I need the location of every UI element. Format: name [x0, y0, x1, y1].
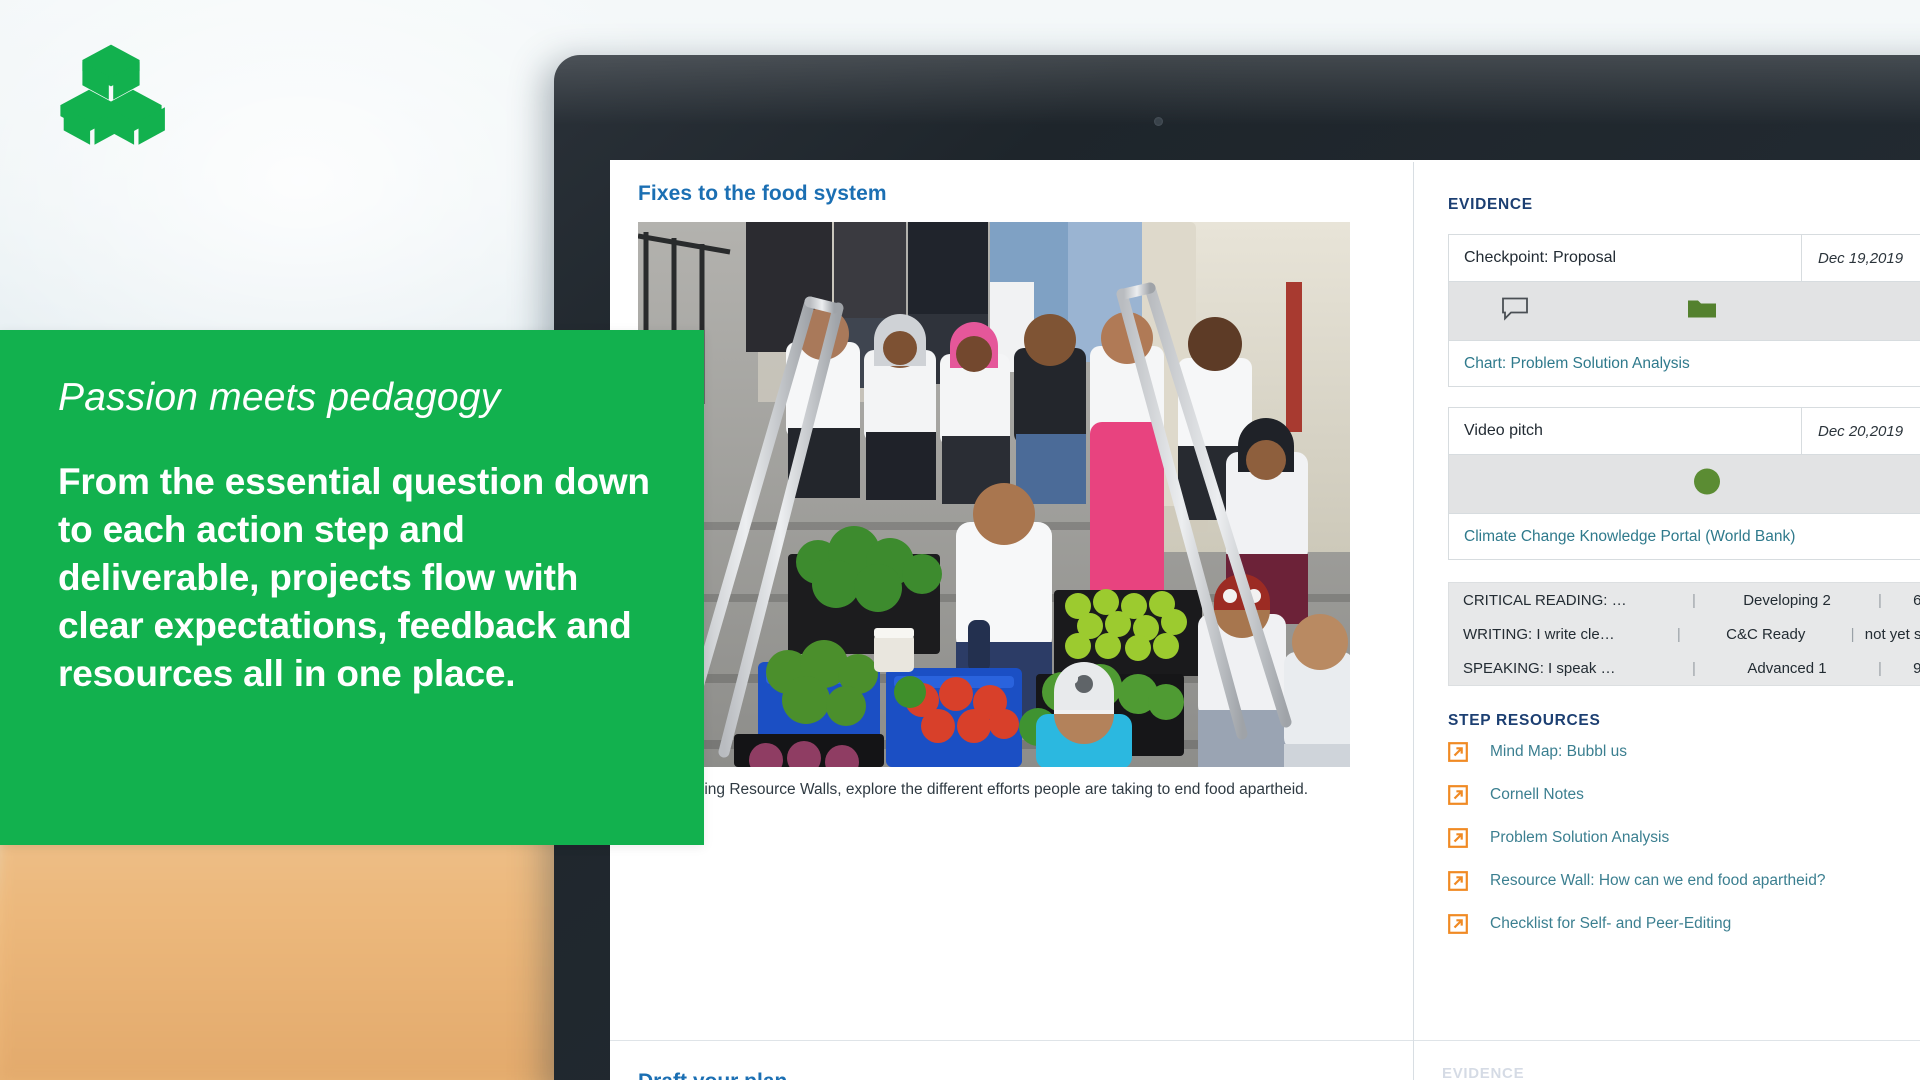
resource-label: Checklist for Self- and Peer-Editing [1490, 915, 1731, 933]
evidence-icon-row [1449, 281, 1920, 341]
cell-divider: | [1681, 592, 1707, 609]
app-window: Fixes to the food system [610, 160, 1920, 1080]
laptop-screen: Fixes to the food system [610, 160, 1920, 1080]
sidebar-divider [1414, 1040, 1920, 1041]
sidebar-bottom-heading: EVIDENCE [1442, 1065, 1524, 1080]
section-divider [610, 1040, 1413, 1041]
table-row[interactable]: WRITING: I write cle… | C&C Ready | not … [1449, 617, 1920, 651]
evidence-card-header: Checkpoint: Proposal Dec 19,2019 [1449, 235, 1920, 281]
evidence-card-header: Video pitch Dec 20,2019 [1449, 408, 1920, 454]
rubric-score: not yet scored [1865, 626, 1920, 643]
rubric-score: 98/100 [1893, 660, 1920, 677]
external-link-icon [1448, 914, 1468, 934]
rubric-skill: CRITICAL READING: … [1463, 592, 1681, 609]
resource-link-item[interactable]: Problem Solution Analysis [1448, 816, 1920, 859]
rubric-level: Developing 2 [1707, 592, 1867, 609]
resource-link-item[interactable]: Resource Wall: How can we end food apart… [1448, 859, 1920, 902]
promo-body: From the essential question down to each… [58, 458, 664, 698]
step-resources-heading: STEP RESOURCES [1448, 712, 1920, 730]
table-row[interactable]: CRITICAL READING: … | Developing 2 | 65/… [1449, 583, 1920, 617]
evidence-heading: EVIDENCE [1448, 196, 1920, 214]
resource-label: Cornell Notes [1490, 786, 1584, 804]
evidence-link[interactable]: Climate Change Knowledge Portal (World B… [1449, 514, 1920, 559]
cell-divider: | [1840, 626, 1864, 643]
status-dot-icon[interactable] [1693, 468, 1721, 501]
folder-icon[interactable] [1687, 297, 1717, 326]
external-link-icon [1448, 742, 1468, 762]
table-row[interactable]: SPEAKING: I speak … | Advanced 1 | 98/10… [1449, 651, 1920, 685]
rubric-score: 65/100 [1893, 592, 1920, 609]
step-photo [638, 222, 1350, 767]
resource-link-item[interactable]: Mind Map: Bubbl us [1448, 730, 1920, 773]
external-link-icon [1448, 871, 1468, 891]
sidebar-column: EVIDENCE Checkpoint: Proposal Dec 19,201… [1414, 160, 1920, 1080]
main-column: Fixes to the food system [610, 160, 1413, 1080]
resource-label: Resource Wall: How can we end food apart… [1490, 872, 1825, 890]
rubric-skill: SPEAKING: I speak … [1463, 660, 1681, 677]
cell-divider: | [1867, 660, 1893, 677]
photo-caption: our Learning Resource Walls, explore the… [638, 781, 1398, 799]
evidence-icon-row [1449, 454, 1920, 514]
evidence-card[interactable]: Checkpoint: Proposal Dec 19,2019 [1448, 234, 1920, 387]
resource-link-item[interactable]: Cornell Notes [1448, 773, 1920, 816]
promo-eyebrow: Passion meets pedagogy [58, 376, 664, 420]
rubric-skill: WRITING: I write cle… [1463, 626, 1667, 643]
evidence-card[interactable]: Video pitch Dec 20,2019 Climate Change K… [1448, 407, 1920, 560]
promo-screenshot: Fixes to the food system [0, 0, 1920, 1080]
evidence-title: Video pitch [1449, 408, 1802, 454]
resource-label: Mind Map: Bubbl us [1490, 743, 1627, 761]
evidence-date: Dec 20,2019 [1802, 408, 1920, 454]
rubric-level: Advanced 1 [1707, 660, 1867, 677]
cubes-logo [56, 38, 166, 148]
evidence-title: Checkpoint: Proposal [1449, 235, 1802, 281]
resource-link-item[interactable]: Checklist for Self- and Peer-Editing [1448, 902, 1920, 945]
cell-divider: | [1667, 626, 1691, 643]
resource-label: Problem Solution Analysis [1490, 829, 1669, 847]
promo-panel: Passion meets pedagogy From the essentia… [0, 330, 704, 845]
comment-icon[interactable] [1501, 297, 1529, 326]
page-title: Fixes to the food system [610, 160, 1413, 206]
webcam-icon [1154, 117, 1163, 126]
cell-divider: | [1681, 660, 1707, 677]
page-title-draft-your-plan: Draft your plan [638, 1070, 787, 1080]
evidence-date: Dec 19,2019 [1802, 235, 1920, 281]
bezel-sheen [554, 55, 1920, 125]
rubric-level: C&C Ready [1691, 626, 1841, 643]
external-link-icon [1448, 785, 1468, 805]
laptop-device: Fixes to the food system [554, 55, 1920, 1080]
external-link-icon [1448, 828, 1468, 848]
evidence-link[interactable]: Chart: Problem Solution Analysis [1449, 341, 1920, 386]
cell-divider: | [1867, 592, 1893, 609]
rubric-table: CRITICAL READING: … | Developing 2 | 65/… [1448, 582, 1920, 686]
